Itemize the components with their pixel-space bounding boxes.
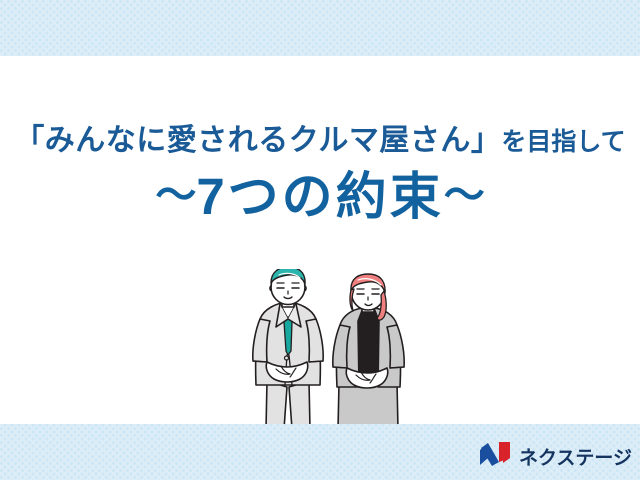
page-subtitle: ～7つの約束～ (0, 157, 640, 222)
headline-main-quoted: 「みんなに愛されるクルマ屋さん」 (14, 124, 501, 157)
female-staff-figure (333, 274, 404, 424)
brand-name: ネクステージ (519, 443, 632, 470)
headline-block: 「みんなに愛されるクルマ屋さん」を目指して ～7つの約束～ (0, 56, 640, 222)
page-title: 「みんなに愛されるクルマ屋さん」を目指して (0, 56, 640, 157)
headline-sub-text: 7つの約束 (196, 168, 443, 225)
content-panel: 「みんなに愛されるクルマ屋さん」を目指して ～7つの約束～ (0, 56, 640, 424)
brand-logo: ネクステージ (479, 441, 632, 472)
headline-tilde-right: ～ (444, 172, 485, 218)
male-staff-figure (253, 269, 323, 424)
nextage-n-logo-icon (479, 441, 512, 472)
headline-main-tail: を目指して (501, 128, 625, 156)
promo-banner: 「みんなに愛されるクルマ屋さん」を目指して ～7つの約束～ (0, 0, 640, 480)
headline-tilde-left: ～ (155, 172, 196, 218)
two-bowing-staff-illustration (243, 269, 418, 424)
